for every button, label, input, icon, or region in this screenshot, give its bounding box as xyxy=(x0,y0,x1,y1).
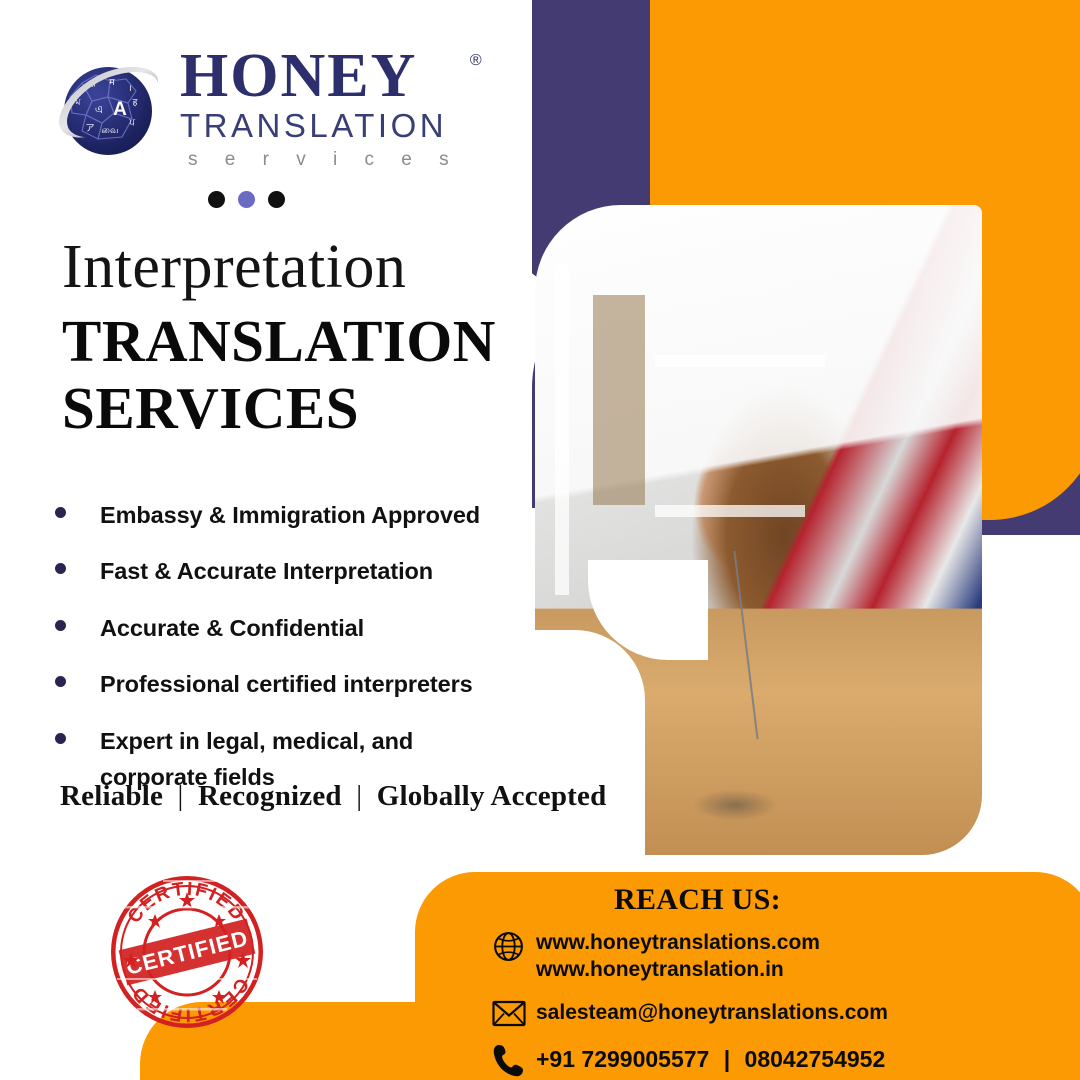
photo-notch-lower xyxy=(525,630,645,860)
tagline-part-2: Recognized xyxy=(198,780,342,812)
envelope-icon xyxy=(492,998,536,1027)
list-item: Professional certified interpreters xyxy=(55,666,525,702)
heading-line-2: SERVICES xyxy=(62,375,496,442)
svg-text:CERTIFIED: CERTIFIED xyxy=(127,974,252,1025)
list-item: Embassy & Immigration Approved xyxy=(55,497,525,533)
registered-trademark-icon: ® xyxy=(470,52,482,70)
dot-1 xyxy=(208,191,225,208)
heading-line-1: TRANSLATION xyxy=(62,308,496,375)
bullet-icon xyxy=(55,733,66,744)
brand-logo-text: HONEY ® TRANSLATION s e r v i c e s xyxy=(180,46,460,171)
phone-number-2[interactable]: 08042754952 xyxy=(745,1046,886,1072)
contact-row-email[interactable]: salesteam@honeytranslations.com xyxy=(492,998,1052,1027)
svg-text:CERTIFIED: CERTIFIED xyxy=(123,925,250,980)
tagline: Reliable | Recognized | Globally Accepte… xyxy=(60,780,606,813)
brand-name-tertiary: s e r v i c e s xyxy=(180,149,460,171)
svg-text:म: म xyxy=(109,78,115,88)
list-item: Fast & Accurate Interpretation xyxy=(55,553,525,589)
decorative-dots xyxy=(208,191,285,208)
headset-wire xyxy=(733,551,758,740)
contact-row-phone[interactable]: +91 7299005577 | 08042754952 xyxy=(492,1041,1052,1077)
svg-text:।: । xyxy=(128,84,131,94)
shelf-line xyxy=(593,295,645,505)
tagline-part-1: Reliable xyxy=(60,780,163,812)
shelf-line xyxy=(555,265,569,595)
svg-text:এ: এ xyxy=(95,103,103,116)
contact-list: www.honeytranslations.com www.honeytrans… xyxy=(492,928,1052,1080)
website-links[interactable]: www.honeytranslations.com www.honeytrans… xyxy=(536,928,820,984)
page-title: TRANSLATION SERVICES xyxy=(62,308,496,441)
tagline-separator: | xyxy=(171,780,191,812)
dot-3 xyxy=(268,191,285,208)
svg-text:வை: வை xyxy=(101,126,118,136)
svg-text:ਪ: ਪ xyxy=(128,118,135,128)
globe-icon xyxy=(492,928,536,963)
svg-text:A: A xyxy=(113,99,127,120)
phone-numbers[interactable]: +91 7299005577 | 08042754952 xyxy=(536,1041,885,1075)
contact-heading: REACH US: xyxy=(614,883,781,917)
bullet-icon xyxy=(55,563,66,574)
brand-name-primary: HONEY xyxy=(180,48,460,105)
bullet-icon xyxy=(55,507,66,518)
shelf-line xyxy=(655,355,825,367)
globe-languages-icon: क म । ম এ ह ア வை ਪ A xyxy=(52,53,164,165)
dot-2 xyxy=(238,191,255,208)
feature-label: Embassy & Immigration Approved xyxy=(100,497,480,533)
list-item: Accurate & Confidential xyxy=(55,610,525,646)
phone-number-1[interactable]: +91 7299005577 xyxy=(536,1046,709,1072)
feature-list: Embassy & Immigration Approved Fast & Ac… xyxy=(55,497,525,816)
shelf-line xyxy=(655,505,805,517)
tagline-part-3: Globally Accepted xyxy=(377,780,607,812)
certified-stamp-icon: CERTIFIED CERTIFIED CERTIFIED xyxy=(107,872,267,1032)
bullet-icon xyxy=(55,620,66,631)
feature-label: Fast & Accurate Interpretation xyxy=(100,553,433,589)
phone-separator: | xyxy=(716,1046,738,1072)
bullet-icon xyxy=(55,676,66,687)
brand-name-secondary: TRANSLATION xyxy=(180,107,460,145)
feature-label: Accurate & Confidential xyxy=(100,610,364,646)
tagline-separator: | xyxy=(349,780,369,812)
website-link-2[interactable]: www.honeytranslation.in xyxy=(536,956,820,983)
svg-text:ア: ア xyxy=(85,124,94,134)
email-link[interactable]: salesteam@honeytranslations.com xyxy=(536,998,888,1026)
contact-row-website[interactable]: www.honeytranslations.com www.honeytrans… xyxy=(492,928,1052,984)
website-link-1[interactable]: www.honeytranslations.com xyxy=(536,929,820,956)
feature-label: Professional certified interpreters xyxy=(100,666,473,702)
poster-canvas: क म । ম এ ह ア வை ਪ A HONEY ® TRANSLATION… xyxy=(0,0,1080,1080)
heading-script: Interpretation xyxy=(62,236,406,298)
svg-text:ह: ह xyxy=(133,98,138,108)
phone-icon xyxy=(492,1041,536,1077)
brand-logo[interactable]: क म । ম এ ह ア வை ਪ A HONEY ® TRANSLATION… xyxy=(52,46,460,171)
